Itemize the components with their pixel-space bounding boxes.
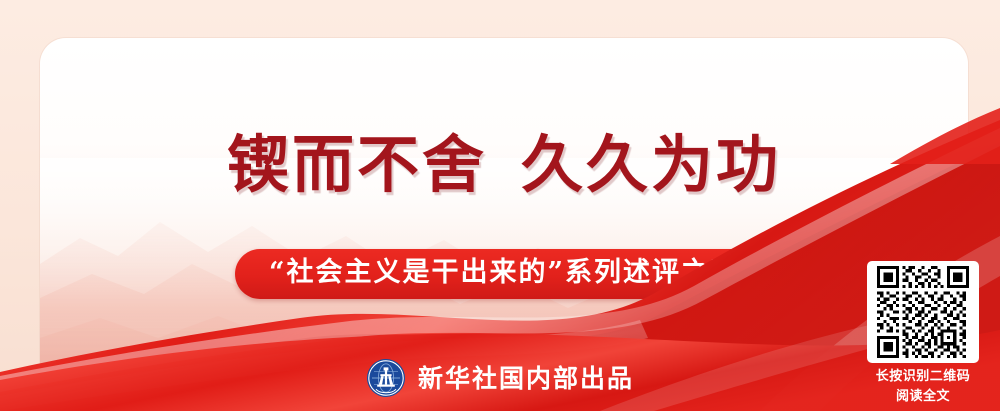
brand-footer: 新华社国内部出品 <box>0 358 1000 398</box>
poster-banner: 锲而不舍久久为功 “社会主义是干出来的”系列述评之四 <box>0 0 1000 411</box>
qr-code-icon[interactable] <box>867 261 979 363</box>
qr-caption-line-2: 阅读全文 <box>860 388 986 407</box>
red-silk-ribbon-graphic <box>0 0 1000 411</box>
qr-caption-line-1: 长按识别二维码 <box>860 368 986 387</box>
xinhua-agency-logo-icon <box>366 358 406 398</box>
brand-text: 新华社国内部出品 <box>418 366 634 391</box>
qr-panel: 长按识别二维码 阅读全文 <box>860 261 986 407</box>
